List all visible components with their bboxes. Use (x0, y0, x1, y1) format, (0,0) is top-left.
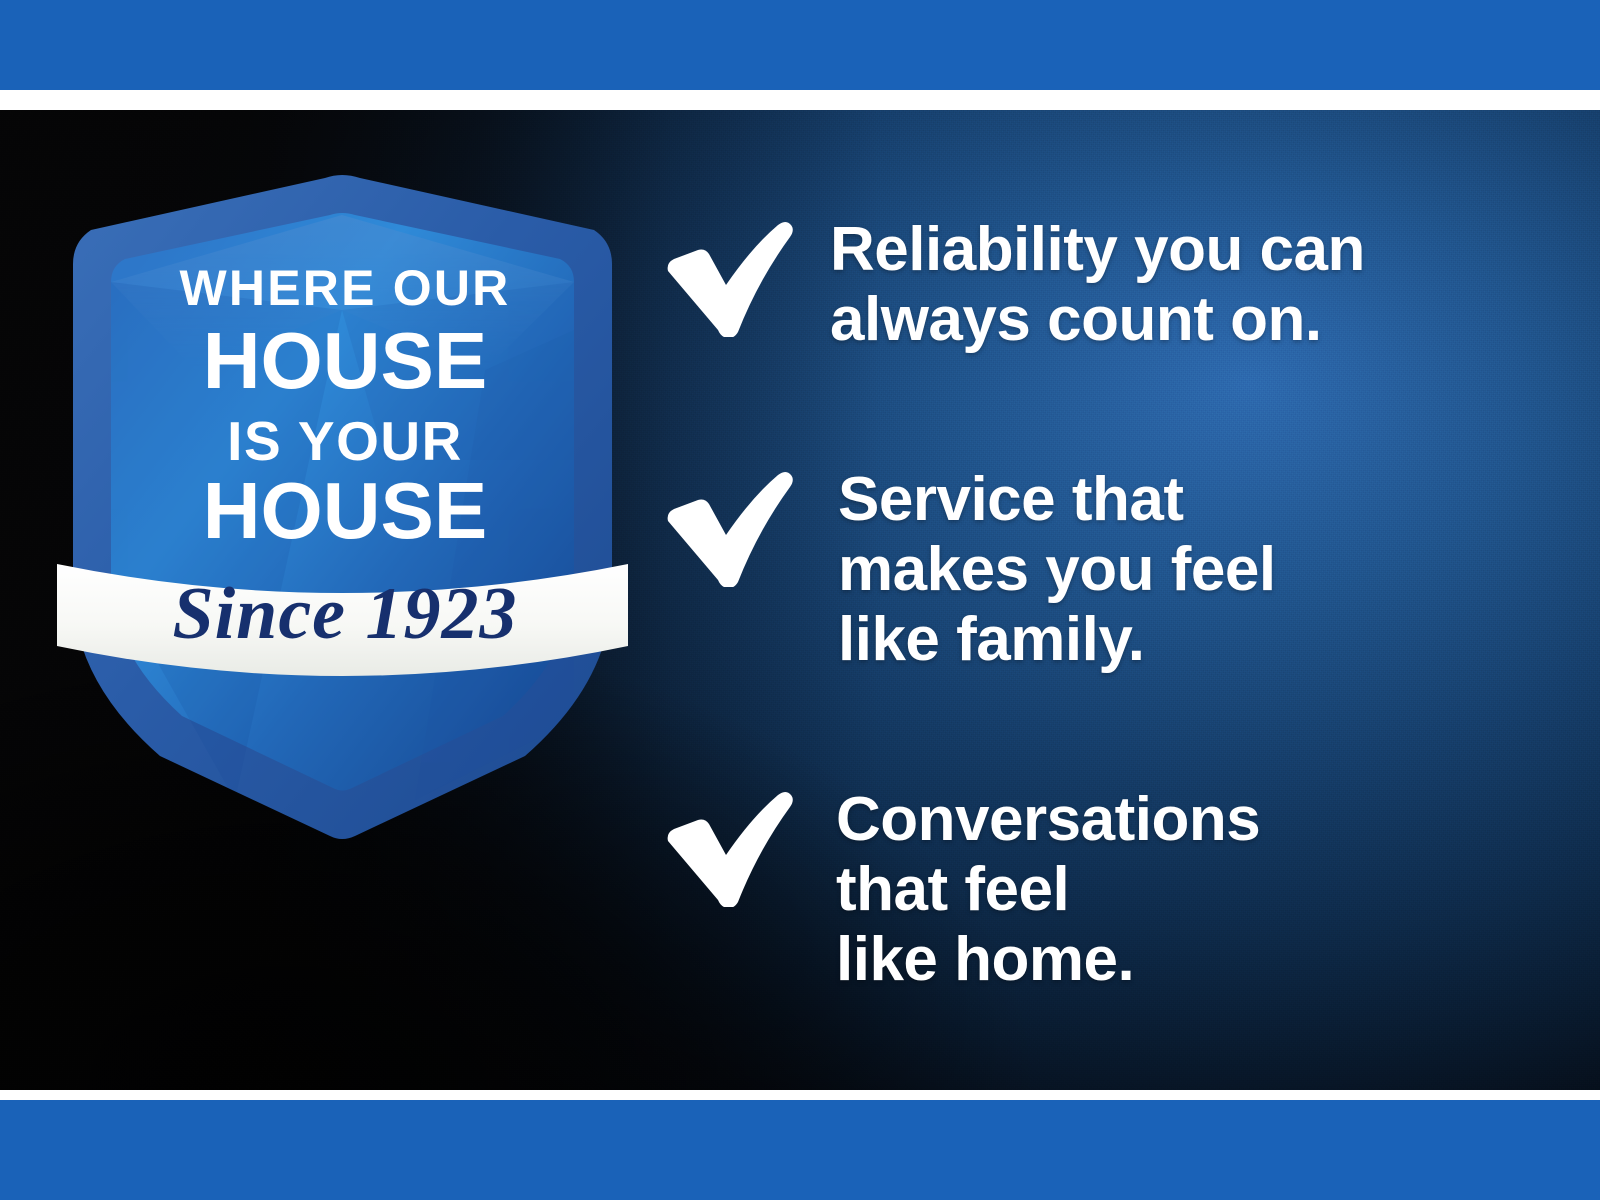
bottom-brand-bar (0, 1100, 1600, 1200)
check-icon (660, 789, 800, 907)
shield-line-1: WHERE OUR (180, 260, 511, 316)
ribbon-since-text: Since 1923 (172, 573, 517, 655)
benefit-item-2: Service that makes you feel like family. (660, 465, 1276, 675)
promo-poster: WHERE OUR HOUSE IS YOUR HOUSE Since 1923… (0, 0, 1600, 1200)
benefits-list: Reliability you can always count on. Ser… (660, 110, 1560, 1090)
check-icon (660, 469, 800, 587)
benefit-text-1: Reliability you can always count on. (830, 215, 1365, 355)
shield-emblem: WHERE OUR HOUSE IS YOUR HOUSE Since 1923 (55, 160, 630, 840)
top-brand-bar (0, 0, 1600, 90)
shield-line-2: HOUSE (203, 316, 488, 405)
shield-line-4: HOUSE (203, 466, 488, 555)
benefit-text-3: Conversations that feel like home. (836, 785, 1260, 995)
shield-ribbon: Since 1923 (57, 564, 628, 676)
benefit-text-2: Service that makes you feel like family. (838, 465, 1276, 675)
benefit-item-3: Conversations that feel like home. (660, 785, 1260, 995)
shield-line-3: IS YOUR (227, 410, 463, 472)
check-icon (660, 219, 800, 337)
benefit-item-1: Reliability you can always count on. (660, 215, 1365, 355)
